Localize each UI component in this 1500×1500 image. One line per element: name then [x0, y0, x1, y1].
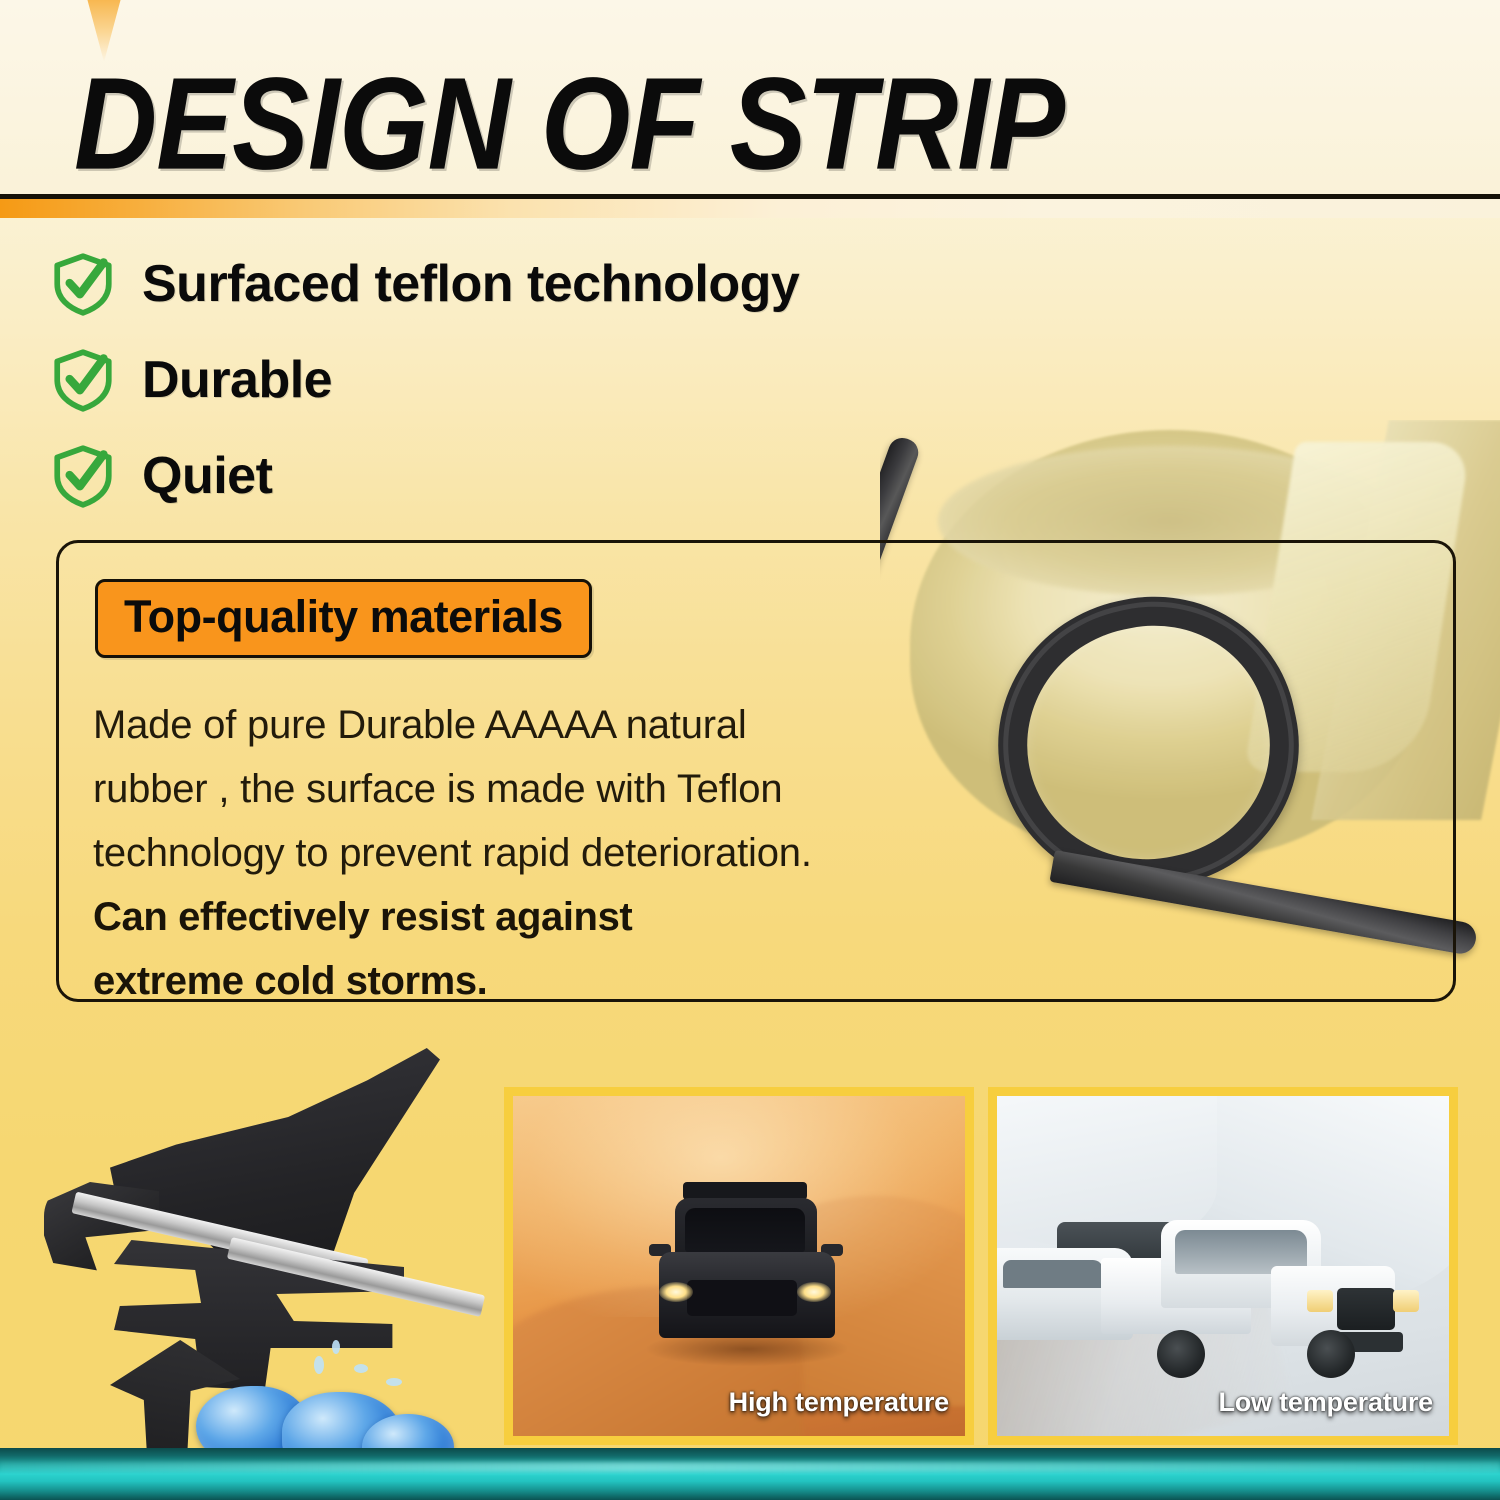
list-item: Surfaced teflon technology — [50, 236, 1130, 332]
headlight — [1393, 1290, 1419, 1312]
background-vehicle-glass — [1003, 1260, 1103, 1288]
front-grille — [687, 1280, 797, 1316]
water-splash — [386, 1378, 402, 1386]
infographic-page: DESIGN OF STRIP Surfaced teflon technolo… — [0, 0, 1500, 1500]
info-card: Top-quality materials Made of pure Durab… — [56, 540, 1456, 1002]
header-accent-bar — [0, 199, 1500, 218]
photo-caption: Low temperature — [1218, 1387, 1433, 1418]
body-line: technology to prevent rapid deterioratio… — [93, 821, 933, 885]
shield-check-icon — [50, 443, 116, 509]
list-item: Durable — [50, 332, 1130, 428]
headlight — [1307, 1290, 1333, 1312]
high-temperature-photo: High temperature — [504, 1087, 974, 1445]
windshield — [685, 1208, 805, 1252]
front-grille — [1337, 1288, 1395, 1330]
body-line: rubber , the surface is made with Teflon — [93, 757, 933, 821]
low-temperature-photo: Low temperature — [988, 1087, 1458, 1445]
water-splash — [354, 1364, 368, 1373]
list-item-label: Quiet — [142, 446, 272, 506]
water-splash — [314, 1356, 324, 1374]
shield-check-icon — [50, 251, 116, 317]
list-item-label: Surfaced teflon technology — [142, 254, 799, 314]
pickup-truck — [1101, 1214, 1401, 1404]
footer-bar — [0, 1448, 1500, 1500]
wheel — [1307, 1330, 1355, 1378]
body-line: Made of pure Durable AAAAA natural — [93, 693, 933, 757]
footer-highlight — [0, 1462, 1500, 1472]
water-splash — [332, 1340, 340, 1354]
wheel — [1157, 1330, 1205, 1378]
info-card-body: Made of pure Durable AAAAA natural rubbe… — [93, 693, 933, 1013]
list-item-label: Durable — [142, 350, 332, 410]
shield-check-icon — [50, 347, 116, 413]
header-banner: DESIGN OF STRIP — [0, 0, 1500, 196]
photo-caption: High temperature — [729, 1387, 949, 1418]
status-badge: Top-quality materials — [95, 579, 592, 658]
page-title: DESIGN OF STRIP — [74, 48, 1064, 196]
emphasis-line: extreme cold storms. — [93, 949, 933, 1013]
suv-vehicle — [653, 1182, 839, 1372]
headlight — [797, 1282, 831, 1302]
headlight — [659, 1282, 693, 1302]
blade-cross-section — [14, 1040, 494, 1460]
emphasis-line: Can effectively resist against — [93, 885, 933, 949]
